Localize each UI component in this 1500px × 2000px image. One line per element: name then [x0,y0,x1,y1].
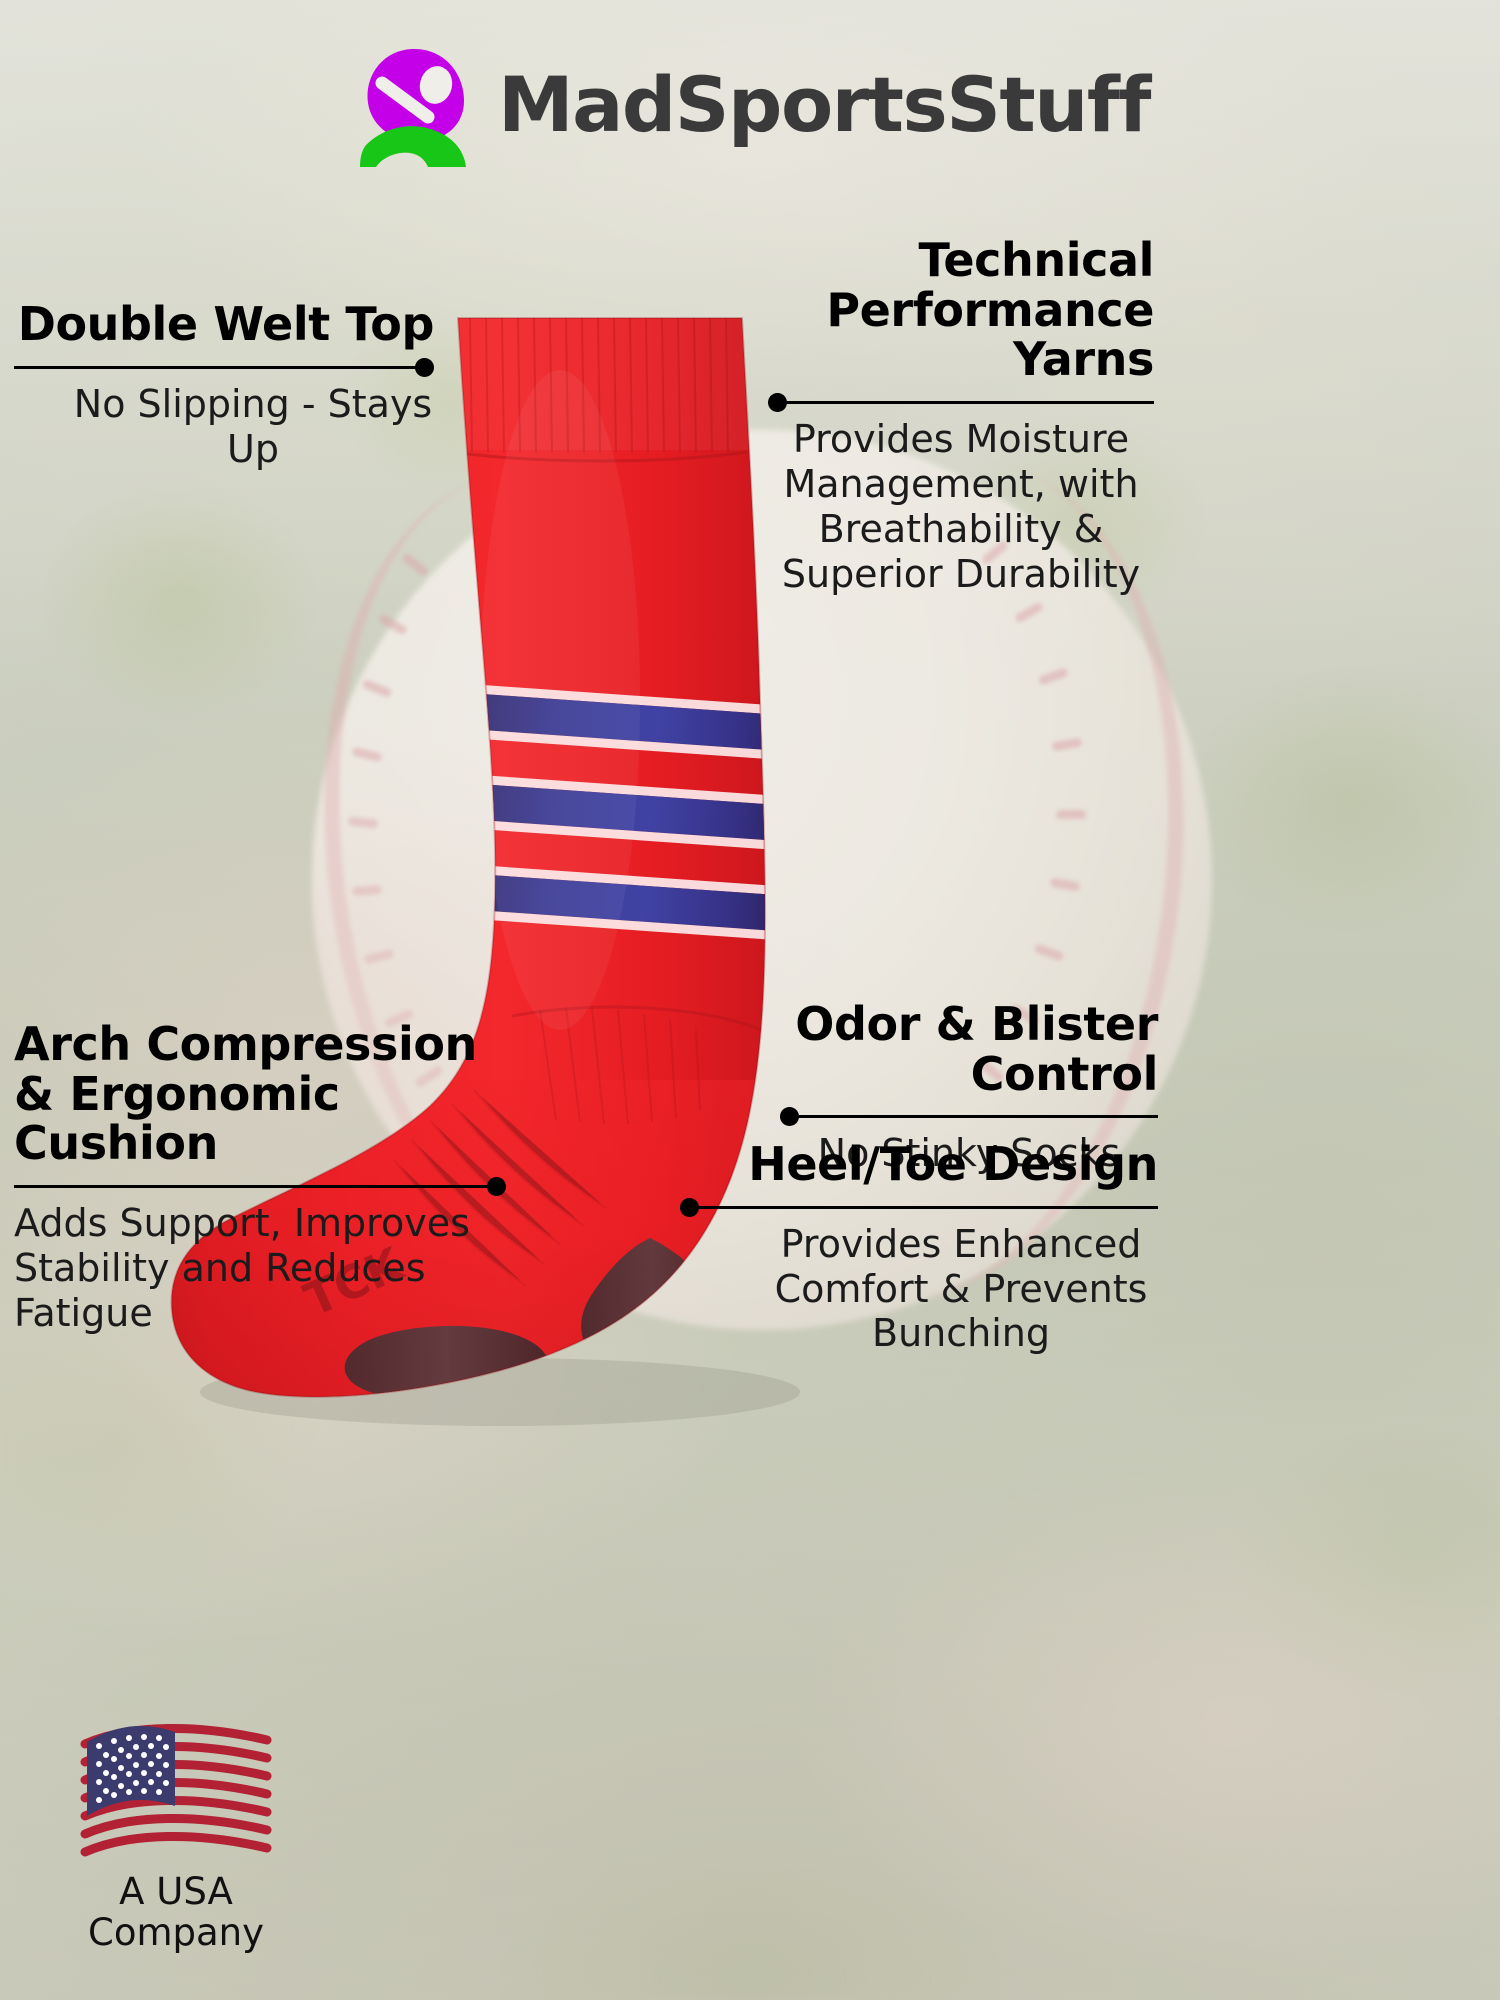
leader-dot [680,1198,699,1217]
leader-dot [768,393,787,412]
callout-heading: Technical Performance Yarns [768,236,1154,385]
usa-company-caption: A USA Company [46,1872,306,1953]
callout-body: No Slipping - Stays Up [14,382,434,472]
brand-header: MadSportsStuff [0,30,1500,180]
callout-leader-line [768,393,1154,411]
callout-heading: Heel/Toe Design [680,1140,1158,1190]
madsportsstuff-logo-icon [350,41,478,169]
callout-leader-line [780,1107,1158,1125]
leader-bar [14,366,425,369]
leader-bar [777,401,1154,404]
callout-technical-performance-yarns: Technical Performance Yarns Provides Moi… [768,236,1154,596]
callout-leader-line [14,358,434,376]
brand-wordmark: MadSportsStuff [498,67,1150,143]
leader-bar [14,1185,497,1188]
callout-heading: Arch Compression & Ergonomic Cushion [14,1020,506,1169]
leader-dot [780,1107,799,1126]
leader-dot [415,358,434,377]
callout-body: Adds Support, Improves Stability and Red… [14,1201,506,1335]
leader-bar [789,1115,1158,1118]
callout-leader-line [680,1198,1158,1216]
callout-double-welt-top: Double Welt Top No Slipping - Stays Up [14,300,434,471]
callout-arch-compression: Arch Compression & Ergonomic Cushion Add… [14,1020,506,1336]
callout-leader-line [14,1177,506,1195]
callout-heading: Odor & Blister Control [780,1000,1158,1099]
infographic-canvas: TCK MadSportsStuff Double W [0,0,1500,2000]
callout-body: Provides Moisture Management, with Breat… [768,417,1154,596]
leader-dot [487,1177,506,1196]
callout-heel-toe-design: Heel/Toe Design Provides Enhanced Comfor… [680,1140,1158,1356]
callout-heading: Double Welt Top [14,300,434,350]
usa-company-badge: A USA Company [46,1718,306,1953]
leader-bar [689,1206,1158,1209]
usa-flag-icon [71,1718,281,1868]
callout-body: Provides Enhanced Comfort & Prevents Bun… [680,1222,1158,1356]
